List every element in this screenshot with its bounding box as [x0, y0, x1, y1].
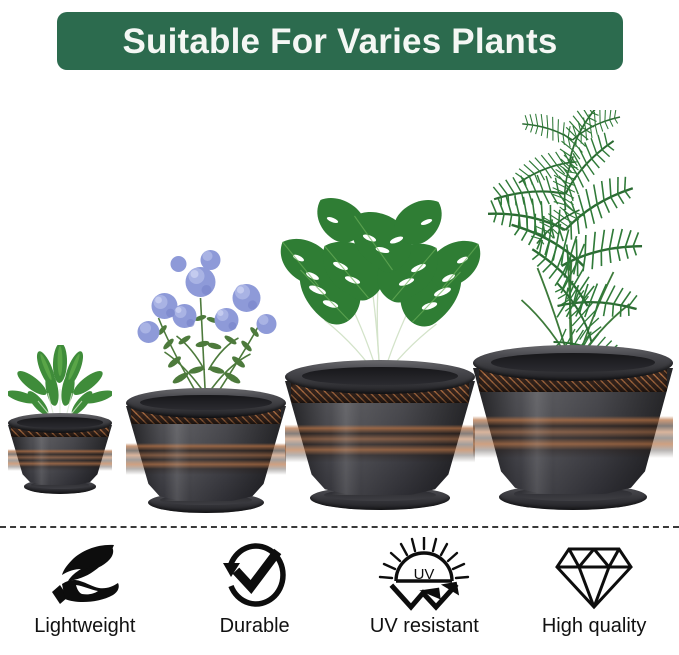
- feature-uv-resistant: UV UV resistant: [340, 536, 510, 655]
- hand-feather-icon: [46, 536, 124, 614]
- feature-label-high-quality: High quality: [542, 616, 647, 636]
- pot-large: [473, 345, 673, 510]
- feature-label-uv-resistant: UV resistant: [370, 616, 479, 636]
- feature-high-quality: High quality: [509, 536, 679, 655]
- feature-label-durable: Durable: [220, 616, 290, 636]
- pot-rim-large: [473, 345, 673, 381]
- pot-group-extra-small: [8, 345, 112, 510]
- feature-lightweight: Lightweight: [0, 536, 170, 655]
- pot-group-small: [126, 220, 286, 510]
- pot-rim-extra-small: [8, 413, 112, 433]
- feature-label-lightweight: Lightweight: [34, 616, 135, 636]
- uv-sun-icon: UV: [376, 536, 472, 614]
- plant-monstera: [273, 170, 488, 385]
- plant-areca-palm: [466, 110, 679, 375]
- pot-rim-medium: [285, 360, 475, 394]
- pot-group-large: [473, 110, 673, 510]
- feature-durable: Durable: [170, 536, 340, 655]
- uv-icon-text: UV: [414, 566, 435, 583]
- pot-extra-small: [8, 413, 112, 493]
- pot-group-medium: [285, 170, 475, 510]
- pot-medium: [285, 360, 475, 510]
- product-scene: [0, 80, 679, 520]
- check-circle-arrow-icon: [219, 536, 291, 614]
- diamond-icon: [555, 536, 633, 614]
- section-divider: [0, 526, 679, 528]
- header-banner: Suitable For Varies Plants: [57, 12, 623, 70]
- pot-rim-small: [126, 388, 286, 418]
- banner-title: Suitable For Varies Plants: [122, 24, 557, 59]
- pot-small: [126, 388, 286, 513]
- features-row: Lightweight Durable: [0, 536, 679, 655]
